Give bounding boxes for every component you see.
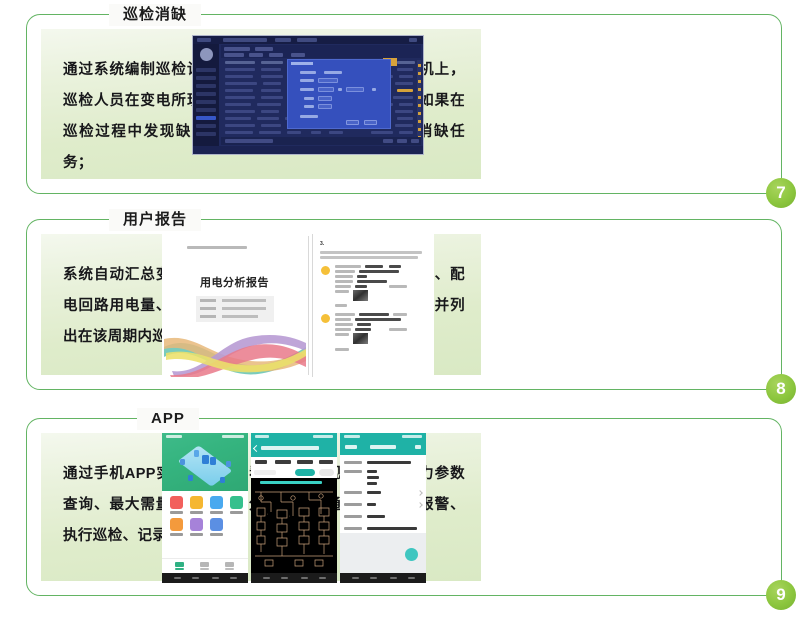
search-input[interactable] [254, 470, 276, 475]
feature-panel-app: APP 通过手机APP实现配电图查看、视频监视及回放、电力参数查询、最大需量统计… [26, 418, 782, 596]
app-icon-3[interactable] [210, 496, 223, 514]
report-page-divider [308, 236, 309, 375]
report-cover-page: 用电分析报告 [162, 234, 307, 377]
report-cover-title: 用电分析报告 [162, 274, 307, 290]
panel-number-badge-9: 9 [766, 580, 796, 610]
floating-action-button[interactable] [405, 548, 418, 561]
back-icon[interactable] [253, 445, 260, 452]
panel-title-inspection: 巡检消缺 [109, 4, 201, 26]
feature-panel-report: 用户报告 系统自动汇总变电所一个月的运行数据，对变压器负荷、配电回路用电量、功率… [26, 219, 782, 390]
query-button[interactable] [295, 469, 315, 476]
app-icon-5[interactable] [170, 518, 183, 536]
report-defect-page: 3. [312, 234, 431, 377]
svg-text:▫: ▫ [267, 513, 268, 516]
tab-message[interactable] [200, 562, 209, 570]
report-section-heading: 3. [320, 241, 334, 247]
form-header [340, 433, 426, 455]
dashboard-content [219, 44, 423, 146]
panel-title-report: 用户报告 [109, 209, 201, 231]
android-navbar-2 [251, 573, 337, 583]
single-line-diagram-svg: ▫▫ [251, 486, 337, 581]
phone-inspection-form [340, 433, 426, 583]
android-navbar-1 [162, 573, 248, 583]
poster-page: 巡检消缺 通过系统编制巡检计划，并将计划下发到巡检人员手机上，巡检人员在变电所现… [0, 0, 800, 617]
app-icon-6[interactable] [190, 518, 203, 536]
status-bar-3 [340, 433, 426, 440]
diagram-header [251, 433, 337, 457]
user-avatar-icon [200, 48, 213, 61]
feature-panel-inspection: 巡检消缺 通过系统编制巡检计划，并将计划下发到巡检人员手机上，巡检人员在变电所现… [26, 14, 782, 194]
diagram-searchbar [251, 467, 337, 478]
status-bar-1 [162, 433, 248, 440]
dashboard-scrollbar[interactable] [417, 60, 421, 136]
report-ribbon-graphic [162, 329, 307, 377]
report-meta-table [196, 296, 274, 322]
tab-profile[interactable] [225, 562, 234, 570]
mobile-screenshots: ▫▫ [162, 433, 434, 583]
dashboard-toolbar [221, 45, 421, 58]
dashboard-statusbar [221, 137, 421, 145]
app-icon-1[interactable] [170, 496, 183, 514]
dashboard-modal-dialog [287, 59, 391, 129]
defect-photo-1 [353, 290, 368, 301]
report-header-line [187, 246, 247, 249]
panel-number-badge-7: 7 [766, 178, 796, 208]
reset-button[interactable] [319, 469, 334, 476]
form-field-list [340, 455, 426, 543]
dashboard-titlebar [193, 36, 423, 44]
phone-single-line-diagram: ▫▫ [251, 433, 337, 583]
app-icon-7[interactable] [210, 518, 223, 536]
phone-home-screen [162, 433, 248, 583]
dashboard-sidebar [193, 44, 219, 146]
panel-number-badge-8: 8 [766, 374, 796, 404]
defect-entry-bullet-1 [321, 266, 330, 275]
app-bottom-tabbar [162, 558, 248, 573]
panel-title-app: APP [137, 408, 199, 430]
report-screenshot: 用电分析报告 3. [162, 234, 434, 377]
defect-photo-2 [353, 333, 368, 344]
diagram-caption [260, 481, 322, 484]
tab-home[interactable] [175, 562, 184, 570]
app-icon-2[interactable] [190, 496, 203, 514]
diagram-tabs [251, 457, 337, 467]
home-hero-banner [162, 433, 248, 491]
defect-entry-bullet-2 [321, 314, 330, 323]
svg-text:▫: ▫ [289, 515, 290, 518]
android-navbar-3 [340, 573, 426, 583]
status-bar-2 [251, 433, 337, 440]
dashboard-screenshot [192, 35, 424, 155]
app-icon-4[interactable] [230, 496, 243, 514]
electrical-diagram: ▫▫ [251, 478, 337, 573]
diagram-header-title [261, 446, 319, 450]
